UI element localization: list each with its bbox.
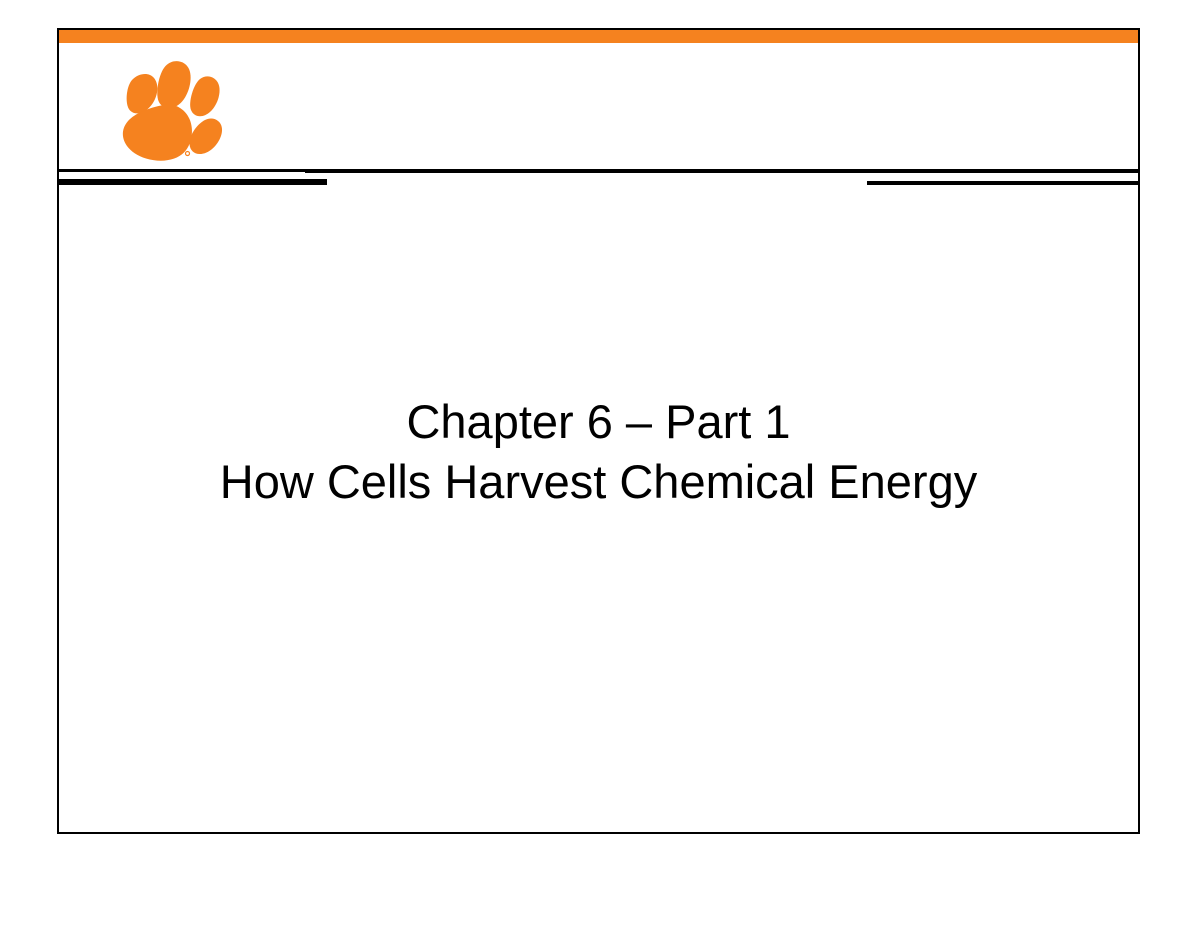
- header-divider: [59, 169, 1138, 187]
- slide-title-line-1: Chapter 6 – Part 1: [59, 392, 1138, 452]
- divider-rule-stub: [305, 170, 1138, 173]
- orange-accent-bar: [59, 30, 1138, 43]
- slide-frame: Chapter 6 – Part 1 How Cells Harvest Che…: [57, 28, 1140, 834]
- slide-body: Chapter 6 – Part 1 How Cells Harvest Che…: [59, 187, 1138, 832]
- clemson-tiger-paw-logo: [111, 57, 231, 165]
- divider-notch: [59, 179, 327, 182]
- presentation-slide: Chapter 6 – Part 1 How Cells Harvest Che…: [0, 0, 1200, 927]
- slide-title-line-2: How Cells Harvest Chemical Energy: [59, 452, 1138, 512]
- divider-notch-gap: [327, 181, 867, 185]
- slide-header: [59, 30, 1138, 171]
- slide-title: Chapter 6 – Part 1 How Cells Harvest Che…: [59, 392, 1138, 512]
